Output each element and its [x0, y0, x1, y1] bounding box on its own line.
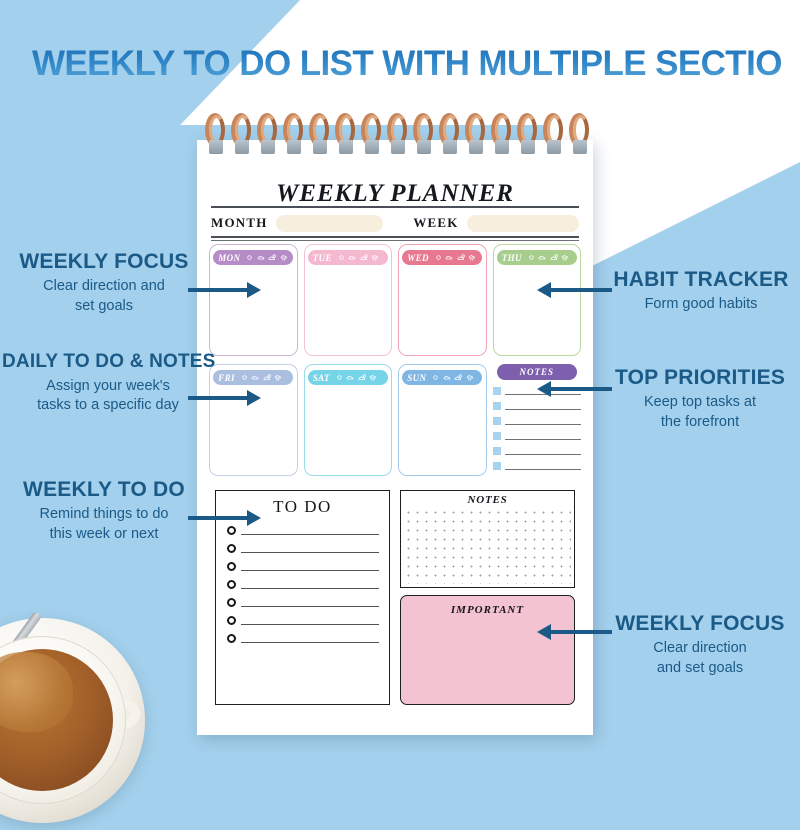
cloud-icon: [348, 253, 357, 262]
spiral-ring: [231, 113, 253, 153]
annotation-sub: Clear direction and set goals: [4, 277, 204, 316]
partly-cloudy-icon: [550, 253, 559, 262]
partly-cloudy-icon: [268, 253, 277, 262]
priority-checkbox[interactable]: [493, 432, 501, 440]
arrow-to-habit-tracker: [550, 288, 612, 292]
divider-mid: [211, 236, 579, 238]
day-pill: MON: [213, 250, 293, 265]
partly-cloudy-icon: [360, 253, 369, 262]
todo-checkbox[interactable]: [227, 616, 236, 625]
weather-icon-group[interactable]: [245, 253, 289, 262]
spiral-binding: [197, 113, 593, 158]
month-label: MONTH: [211, 215, 268, 231]
planner-page: WEEKLY PLANNER MONTH WEEK MONTUEWEDTHU F…: [197, 140, 593, 735]
priority-checkbox[interactable]: [493, 387, 501, 395]
annotation-weekly-todo: WEEKLY TO DO Remind things to do this we…: [4, 478, 204, 544]
priority-checkbox[interactable]: [493, 417, 501, 425]
day-row-2: FRISATSUNNOTES: [209, 364, 581, 476]
priority-line[interactable]: [493, 462, 581, 470]
todo-title: TO DO: [216, 497, 389, 517]
spiral-ring: [205, 113, 227, 153]
todo-line[interactable]: [227, 598, 379, 607]
todo-line[interactable]: [227, 616, 379, 625]
todo-write-line[interactable]: [241, 624, 379, 625]
sun-icon: [431, 373, 440, 382]
priority-checkbox[interactable]: [493, 462, 501, 470]
todo-line[interactable]: [227, 544, 379, 553]
arrow-to-weekly-focus-right: [550, 630, 612, 634]
todo-checkbox[interactable]: [227, 580, 236, 589]
weather-icon-group[interactable]: [434, 253, 478, 262]
annotation-habit-tracker: HABIT TRACKER Form good habits: [606, 268, 796, 315]
partly-cloudy-icon: [457, 253, 466, 262]
notes-panel-title: NOTES: [401, 494, 574, 506]
annotation-heading: DAILY TO DO & NOTES: [2, 352, 214, 373]
priority-line[interactable]: [493, 417, 581, 425]
rain-cloud-icon: [280, 253, 289, 262]
rain-cloud-icon: [468, 253, 477, 262]
cloud-icon: [257, 253, 266, 262]
day-card-thu[interactable]: THU: [493, 244, 582, 356]
todo-write-line[interactable]: [241, 570, 379, 571]
week-input[interactable]: [467, 215, 579, 232]
day-label: THU: [502, 253, 522, 263]
day-pill: FRI: [213, 370, 293, 385]
cloud-icon: [538, 253, 547, 262]
important-title: IMPORTANT: [401, 604, 574, 616]
day-row-1: MONTUEWEDTHU: [209, 244, 581, 356]
annotation-heading: WEEKLY TO DO: [4, 478, 204, 501]
todo-checkbox[interactable]: [227, 526, 236, 535]
todo-write-line[interactable]: [241, 606, 379, 607]
priorities-pill: NOTES: [497, 364, 577, 380]
todo-checkbox[interactable]: [227, 634, 236, 643]
spiral-ring: [335, 113, 357, 153]
spiral-ring: [361, 113, 383, 153]
day-pill: THU: [497, 250, 577, 265]
day-card-fri[interactable]: FRI: [209, 364, 298, 476]
annotation-heading: HABIT TRACKER: [606, 268, 796, 291]
priority-write-line[interactable]: [505, 439, 581, 440]
screenshot-root: WEEKLY TO DO LIST WITH MULTIPLE SECTIONS…: [0, 0, 800, 800]
todo-write-line[interactable]: [241, 534, 379, 535]
annotation-sub: Clear direction and set goals: [604, 639, 796, 678]
priority-write-line[interactable]: [505, 409, 581, 410]
arrow-to-weekly-focus: [188, 288, 248, 292]
cloud-icon: [346, 373, 355, 382]
partly-cloudy-icon: [454, 373, 463, 382]
spiral-ring: [543, 113, 565, 153]
todo-checkbox[interactable]: [227, 544, 236, 553]
todo-write-line[interactable]: [241, 552, 379, 553]
rain-cloud-icon: [274, 373, 283, 382]
weather-icon-group[interactable]: [337, 253, 381, 262]
day-label: TUE: [313, 253, 332, 263]
day-card-sun[interactable]: SUN: [398, 364, 487, 476]
week-label: WEEK: [413, 215, 458, 231]
spiral-ring: [517, 113, 539, 153]
day-card-tue[interactable]: TUE: [304, 244, 393, 356]
day-label: SAT: [313, 373, 330, 383]
day-label: SUN: [407, 373, 426, 383]
todo-line[interactable]: [227, 562, 379, 571]
annotation-sub: Assign your week's tasks to a specific d…: [2, 377, 214, 416]
todo-line[interactable]: [227, 580, 379, 589]
priority-write-line[interactable]: [505, 454, 581, 455]
arrow-to-top-priorities: [550, 387, 612, 391]
day-label: FRI: [218, 373, 235, 383]
divider-top: [211, 206, 579, 208]
annotation-heading: TOP PRIORITIES: [604, 366, 796, 389]
spiral-ring: [387, 113, 409, 153]
weather-icon-group[interactable]: [335, 373, 379, 382]
annotation-sub: Remind things to do this week or next: [4, 505, 204, 544]
todo-line[interactable]: [227, 634, 379, 643]
sun-icon: [337, 253, 346, 262]
spiral-ring: [283, 113, 305, 153]
priority-line[interactable]: [493, 447, 581, 455]
weather-icon-group[interactable]: [240, 373, 284, 382]
divider-mid-thin: [211, 240, 579, 241]
sun-icon: [335, 373, 344, 382]
cloud-icon: [443, 373, 452, 382]
day-card-mon[interactable]: MON: [209, 244, 298, 356]
rain-cloud-icon: [466, 373, 475, 382]
priority-write-line[interactable]: [505, 469, 581, 470]
annotation-weekly-focus-right: WEEKLY FOCUS Clear direction and set goa…: [604, 612, 796, 678]
sun-icon: [527, 253, 536, 262]
notes-dot-grid: [404, 508, 571, 584]
annotation-daily-todo-notes: DAILY TO DO & NOTES Assign your week's t…: [2, 352, 214, 416]
todo-line[interactable]: [227, 526, 379, 535]
day-card-wed[interactable]: WED: [398, 244, 487, 356]
arrow-to-daily-todo: [188, 396, 248, 400]
sun-icon: [240, 373, 249, 382]
important-panel[interactable]: IMPORTANT: [400, 595, 575, 705]
todo-checkbox[interactable]: [227, 598, 236, 607]
todo-write-line[interactable]: [241, 642, 379, 643]
annotation-heading: WEEKLY FOCUS: [604, 612, 796, 635]
annotation-sub: Form good habits: [606, 295, 796, 315]
annotation-top-priorities: TOP PRIORITIES Keep top tasks at the for…: [604, 366, 796, 432]
annotation-weekly-focus-left: WEEKLY FOCUS Clear direction and set goa…: [4, 250, 204, 316]
rain-cloud-icon: [371, 253, 380, 262]
spiral-ring: [413, 113, 435, 153]
notes-panel[interactable]: NOTES: [400, 490, 575, 588]
annotation-sub: Keep top tasks at the forefront: [604, 393, 796, 432]
priority-checkbox[interactable]: [493, 447, 501, 455]
spiral-ring: [309, 113, 331, 153]
weekly-todo-panel[interactable]: TO DO: [215, 490, 390, 705]
sun-icon: [245, 253, 254, 262]
month-week-row: MONTH WEEK: [211, 212, 579, 234]
priority-write-line[interactable]: [505, 424, 581, 425]
day-pill: TUE: [308, 250, 388, 265]
weather-icon-group[interactable]: [431, 373, 475, 382]
day-pill: SUN: [402, 370, 482, 385]
arrow-to-weekly-todo: [188, 516, 248, 520]
weather-icon-group[interactable]: [527, 253, 571, 262]
day-grid: MONTUEWEDTHU FRISATSUNNOTES: [209, 244, 581, 476]
spiral-ring: [257, 113, 279, 153]
priorities-label: NOTES: [519, 367, 554, 377]
rain-cloud-icon: [369, 373, 378, 382]
spiral-ring: [465, 113, 487, 153]
day-card-sat[interactable]: SAT: [304, 364, 393, 476]
day-pill: SAT: [308, 370, 388, 385]
coffee-cup-photo: [0, 600, 170, 830]
spiral-ring: [491, 113, 513, 153]
month-input[interactable]: [276, 215, 384, 232]
annotation-heading: WEEKLY FOCUS: [4, 250, 204, 273]
todo-write-line[interactable]: [241, 588, 379, 589]
spiral-ring: [569, 113, 591, 153]
partly-cloudy-icon: [263, 373, 272, 382]
day-pill: WED: [402, 250, 482, 265]
sun-icon: [434, 253, 443, 262]
partly-cloudy-icon: [358, 373, 367, 382]
priority-line[interactable]: [493, 432, 581, 440]
todo-checkbox[interactable]: [227, 562, 236, 571]
planner-heading: WEEKLY PLANNER: [197, 180, 593, 208]
day-label: WED: [407, 253, 429, 263]
priority-checkbox[interactable]: [493, 402, 501, 410]
spiral-ring: [439, 113, 461, 153]
page-title: WEEKLY TO DO LIST WITH MULTIPLE SECTIONS: [32, 44, 782, 84]
day-label: MON: [218, 253, 240, 263]
cloud-icon: [251, 373, 260, 382]
rain-cloud-icon: [561, 253, 570, 262]
cloud-icon: [445, 253, 454, 262]
priority-line[interactable]: [493, 402, 581, 410]
